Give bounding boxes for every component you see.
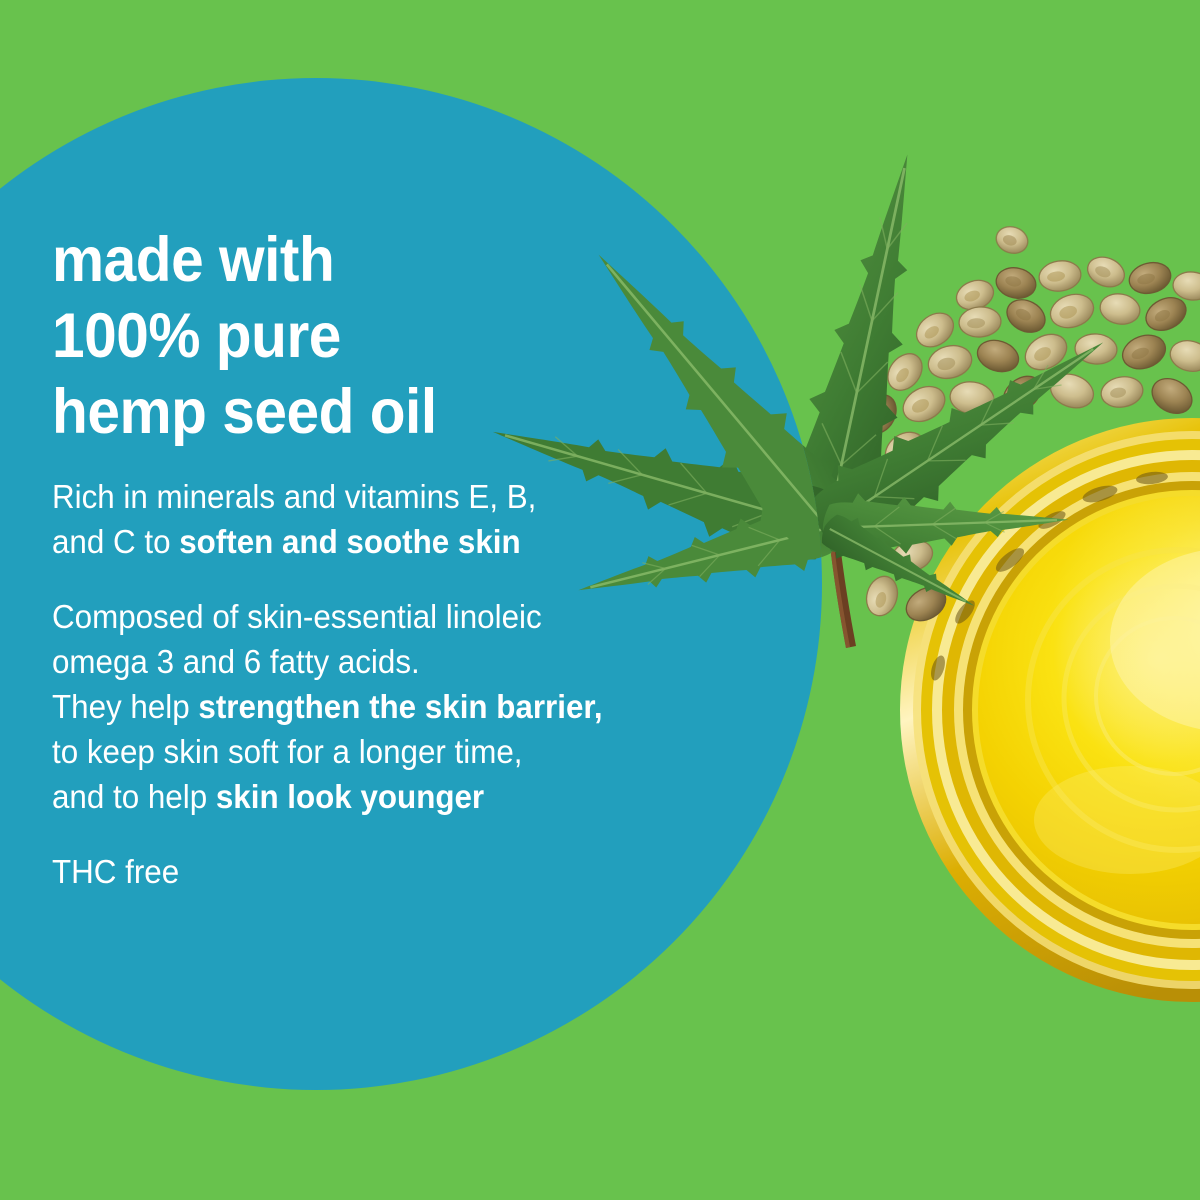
benefit-paragraph-vitamins: Rich in minerals and vitamins E, B, and … [52,474,746,564]
product-benefits-graphic: made with 100% pure hemp seed oil Rich i… [0,0,1200,1200]
body-text: THC free [52,853,179,890]
emphasis-text: strengthen the skin barrier, [198,688,602,725]
copy-block: made with 100% pure hemp seed oil Rich i… [52,222,782,894]
page-title: made with 100% pure hemp seed oil [52,222,731,450]
emphasis-text: soften and soothe skin [179,523,520,560]
emphasis-text: skin look younger [216,778,484,815]
benefit-paragraph-fatty-acids: Composed of skin-essential linoleic omeg… [52,594,746,819]
benefit-paragraph-thc: THC free [52,849,746,894]
